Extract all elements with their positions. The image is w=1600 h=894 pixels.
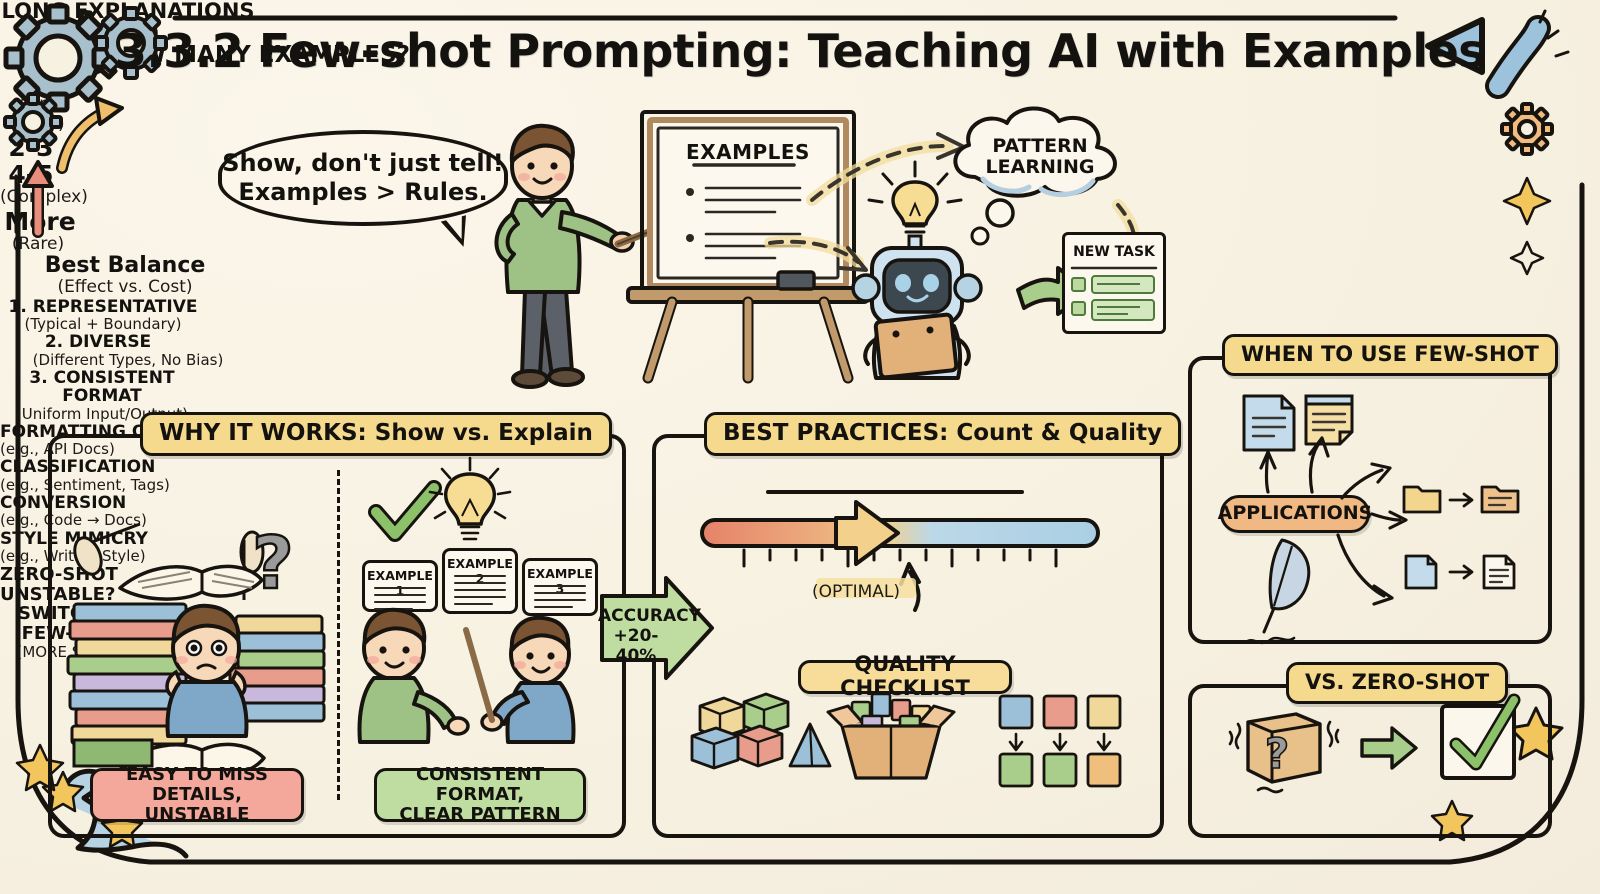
quality-checklist-label: QUALITY CHECKLIST xyxy=(811,653,999,700)
example-card-2: EXAMPLE 2 xyxy=(442,548,518,614)
panel-best-practices xyxy=(652,434,1164,838)
scale-tick-label-3: 4-5 xyxy=(0,161,62,188)
badge-line1: CONSISTENT FORMAT, xyxy=(387,765,573,805)
thought-cloud-line1: PATTERN xyxy=(950,136,1130,157)
scale-tick-sublabel-2: (OPTIMAL) xyxy=(808,583,904,603)
panel-divider xyxy=(337,470,340,800)
quality-checklist-heading: QUALITY CHECKLIST xyxy=(798,660,1012,694)
badge-line1: EASY TO MISS DETAILS, xyxy=(103,765,291,805)
badge-easy-to-miss: EASY TO MISS DETAILS, UNSTABLE xyxy=(90,768,304,822)
badge-consistent-format: CONSISTENT FORMAT, CLEAR PATTERN xyxy=(374,768,586,822)
checklist-item-3-title: 3. CONSISTENT FORMAT xyxy=(0,369,204,406)
panel-why-it-works-heading: WHY IT WORKS: Show vs. Explain xyxy=(140,412,612,456)
accuracy-line1: ACCURACY xyxy=(598,606,674,626)
scale-tick-label-4: More xyxy=(0,208,80,235)
badge-line2: CLEAR PATTERN xyxy=(399,805,560,825)
speech-bubble-line2: Examples > Rules. xyxy=(238,178,487,207)
speech-bubble-tail xyxy=(441,215,473,250)
best-balance-subtitle: (Effect vs. Cost) xyxy=(0,278,250,298)
panel-vs-zero-shot xyxy=(1188,684,1552,838)
applications-hub: APPLICATIONS xyxy=(1220,495,1370,533)
new-task-label: NEW TASK xyxy=(1062,244,1166,260)
accuracy-arrow-label: ACCURACY +20-40% xyxy=(598,606,674,666)
checklist-item-2-title: 2. DIVERSE xyxy=(0,333,196,351)
accuracy-line2: +20-40% xyxy=(598,626,674,666)
checklist-item-1-subtitle: (Typical + Boundary) xyxy=(0,316,206,333)
panel-vs-zero-shot-heading: VS. ZERO-SHOT xyxy=(1286,662,1508,704)
board-heading: EXAMPLES xyxy=(648,140,848,164)
speech-bubble-line1: Show, don't just tell! xyxy=(222,149,503,178)
scale-tick-sublabel-3: (Complex) xyxy=(0,188,84,208)
panel-best-practices-heading: BEST PRACTICES: Count & Quality xyxy=(704,412,1181,456)
panel-when-to-use-heading: WHEN TO USE FEW-SHOT xyxy=(1222,334,1558,376)
scale-tick-sublabel-1: (One-shot) xyxy=(0,95,86,134)
checklist-item-2-subtitle: (Different Types, No Bias) xyxy=(0,352,256,369)
checklist-item-1-title: 1. REPRESENTATIVE xyxy=(0,298,206,316)
page-title: 3.3.2 Few-shot Prompting: Teaching AI wi… xyxy=(0,24,1600,78)
best-balance-title: Best Balance xyxy=(0,254,250,278)
badge-line2: UNSTABLE xyxy=(145,805,250,825)
scale-tick-label-2: 2-3 xyxy=(0,134,62,161)
speech-bubble: Show, don't just tell! Examples > Rules. xyxy=(218,130,508,226)
infographic-canvas: 3.3.2 Few-shot Prompting: Teaching AI wi… xyxy=(0,0,1600,894)
thought-cloud: PATTERN LEARNING xyxy=(950,112,1130,208)
long-explanations-title: LONG EXPLANATIONS xyxy=(0,0,256,23)
applications-hub-label: APPLICATIONS xyxy=(1218,503,1373,524)
examples-scale-bar xyxy=(700,518,1100,548)
example-card-1: EXAMPLE 1 xyxy=(362,560,438,612)
scale-tick-sublabel-4: (Rare) xyxy=(0,235,76,255)
thought-cloud-line2: LEARNING xyxy=(950,157,1130,178)
example-card-3: EXAMPLE 3 xyxy=(522,558,598,616)
